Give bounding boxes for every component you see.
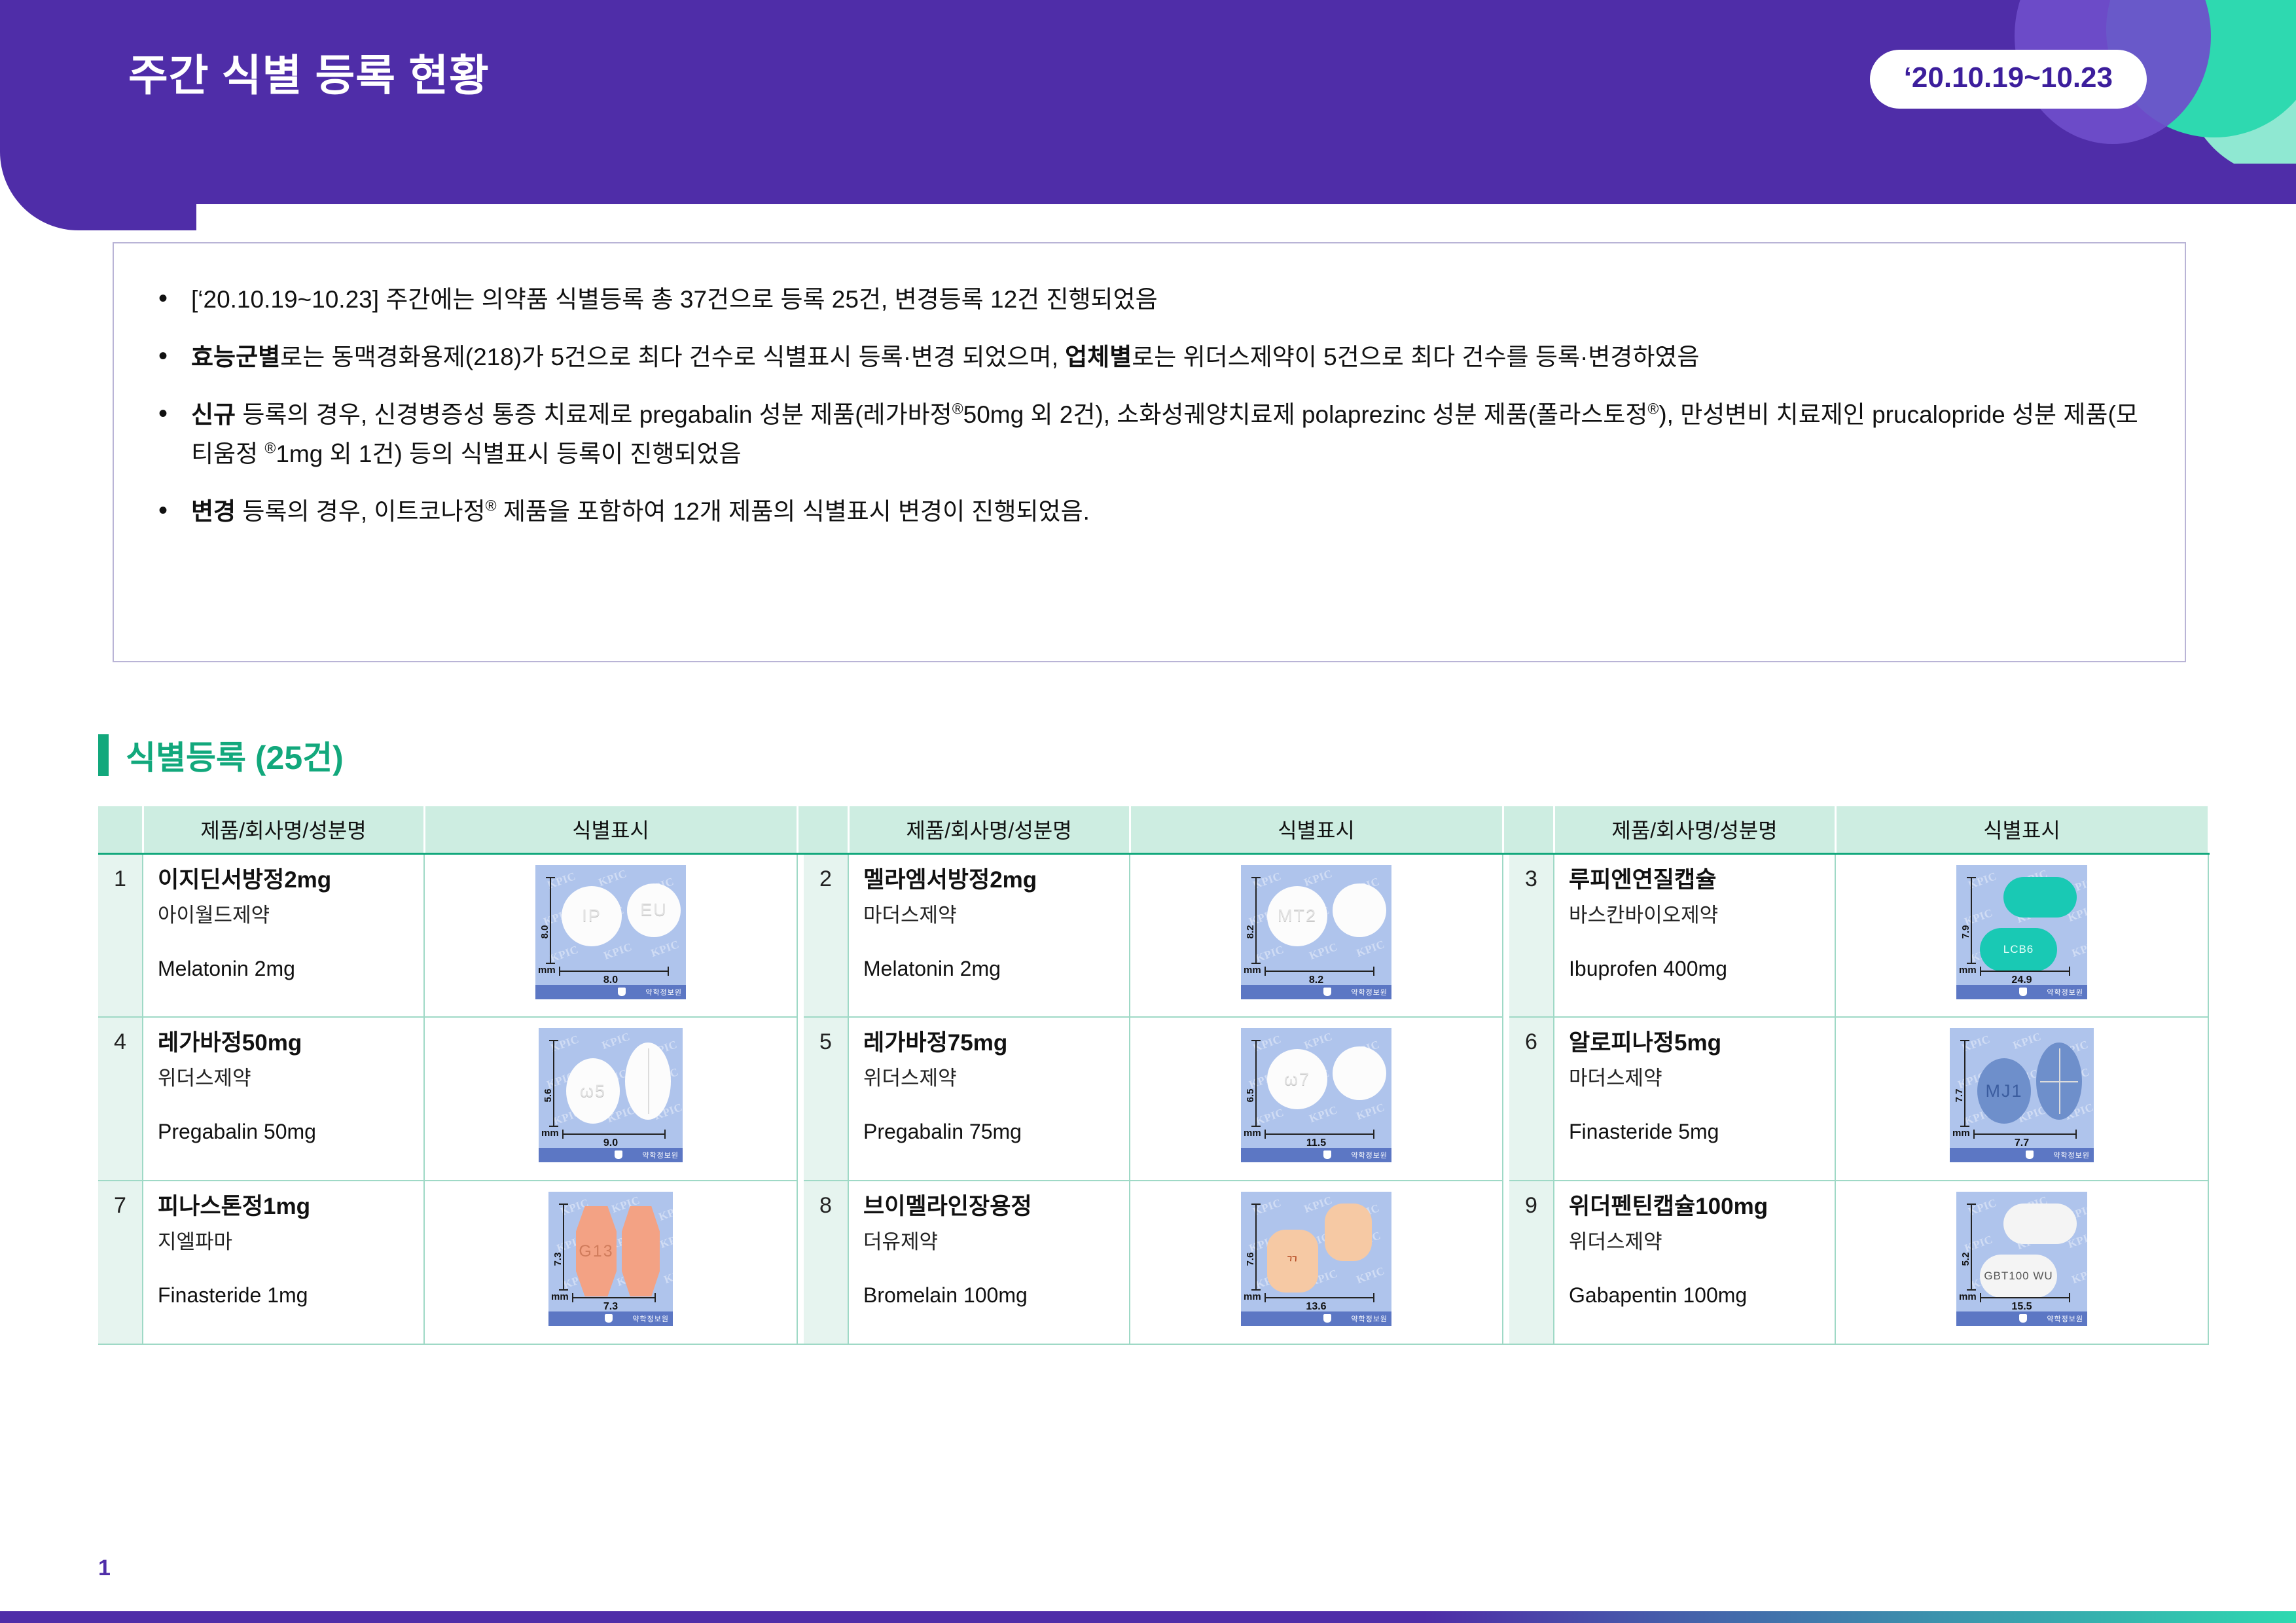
width-ruler [1980, 1297, 2070, 1298]
col-mark-1: 식별표시 [424, 806, 797, 853]
width-ruler [572, 1297, 656, 1298]
height-ruler [563, 1204, 564, 1291]
pill-shape [1325, 1204, 1372, 1261]
bullet-text: 주간에는 의약품 식별등록 총 37건으로 등록 25건, 변경등록 12건 진… [386, 286, 1157, 313]
row-index: 6 [1509, 1017, 1554, 1181]
pill-photo: KPICKPICKPICKPICKPICKPICKPICKPICKPICG137… [548, 1192, 673, 1326]
pill-photo: KPICKPICKPICKPICKPICKPICKPICKPICKPICIPEU… [535, 865, 686, 999]
row-index: 5 [804, 1017, 848, 1181]
row-index: 7 [98, 1181, 143, 1344]
section-heading-label: 식별등록 (25건) [126, 732, 344, 779]
date-range-badge: ‘20.10.19~10.23 [1870, 50, 2147, 109]
identification-mark-cell: KPICKPICKPICKPICKPICKPICKPICKPICKPICω76.… [1130, 1017, 1503, 1181]
photo-source-bar: 약학정보원 [1956, 1311, 2087, 1326]
bullet-text: 등록의 경우, 이트코나정 [242, 498, 485, 525]
row-index: 3 [1509, 853, 1554, 1017]
page-number: 1 [98, 1556, 111, 1581]
column-gap [1503, 1181, 1509, 1344]
kpic-watermark: KPIC [658, 1229, 673, 1251]
pill-shape [622, 1206, 660, 1296]
col-index-2 [804, 806, 848, 853]
pill-photo: KPICKPICKPICKPICKPICKPICKPICKPICKPICMJ17… [1950, 1028, 2094, 1162]
company-name: 마더스제약 [863, 899, 1122, 928]
pill-shape [625, 1043, 671, 1120]
column-gap [1503, 853, 1509, 1017]
bullet-text: 로는 동맥경화용제(218)가 5건으로 최다 건수로 식별표시 등록·변경 되… [280, 344, 1065, 370]
kpic-watermark: KPIC [1302, 1030, 1335, 1052]
kpic-watermark: KPIC [2070, 1264, 2087, 1287]
pill-shape: IP [562, 886, 622, 946]
height-ruler [1964, 1040, 1965, 1127]
table-row: 1이지딘서방정2mg아이월드제약Melatonin 2mgKPICKPICKPI… [98, 853, 2208, 1017]
pill-shape [2003, 877, 2077, 918]
photo-source-bar: 약학정보원 [548, 1311, 673, 1326]
height-ruler [1255, 1204, 1257, 1291]
height-value: 7.3 [552, 1252, 564, 1266]
photo-source-label: 약학정보원 [645, 987, 682, 997]
kpic-logo-icon [615, 1150, 622, 1159]
height-ruler [1255, 877, 1257, 964]
row-index: 8 [804, 1181, 848, 1344]
identification-mark-cell: KPICKPICKPICKPICKPICKPICKPICKPICKPICMT28… [1130, 853, 1503, 1017]
company-name: 아이월드제약 [158, 899, 417, 928]
height-ruler [550, 877, 551, 964]
pill-shape: G13 [576, 1206, 617, 1296]
kpic-logo-icon [605, 1314, 613, 1323]
product-info-cell: 멜라엠서방정2mg마더스제약Melatonin 2mg [848, 853, 1130, 1017]
height-value: 7.7 [1954, 1088, 1965, 1102]
kpic-watermark: KPIC [2011, 1030, 2043, 1052]
kpic-watermark: KPIC [2070, 937, 2087, 959]
height-ruler [1255, 1040, 1257, 1127]
width-ruler [1265, 1133, 1374, 1135]
pill-shape: MJ1 [1977, 1058, 2031, 1124]
pill-shape: GBT100 WU [1980, 1255, 2057, 1298]
product-info-cell: 루피엔연질캡슐바스칸바이오제약Ibuprofen 400mg [1554, 853, 1835, 1017]
kpic-watermark: KPIC [1302, 866, 1335, 889]
col-gap-1 [797, 806, 804, 853]
pill-shape: ω7 [1267, 1049, 1327, 1109]
kpic-watermark: KPIC [1355, 1264, 1387, 1287]
product-info-cell: 피나스톤정1mg지엘파마Finasteride 1mg [143, 1181, 424, 1344]
ingredient-name: Pregabalin 75mg [863, 1120, 1122, 1144]
bullet-text: 효능군별 [191, 344, 280, 370]
kpic-watermark: KPIC [1308, 1103, 1340, 1126]
kpic-logo-icon [2019, 1314, 2027, 1323]
ingredient-name: Bromelain 100mg [863, 1283, 1122, 1308]
col-name-2: 제품/회사명/성분명 [848, 806, 1130, 853]
company-name: 지엘파마 [158, 1225, 417, 1255]
height-ruler [1971, 877, 1972, 964]
bullet-text: 50mg 외 2건), 소화성궤양치료제 polaprezinc 성분 제품(폴… [963, 401, 1648, 428]
row-index: 1 [98, 853, 143, 1017]
page-header: 주간 식별 등록 현황 ‘20.10.19~10.23 [0, 0, 2296, 157]
product-info-cell: 레가바정50mg위더스제약Pregabalin 50mg [143, 1017, 424, 1181]
height-value: 5.2 [1960, 1252, 1971, 1266]
summary-bullet: 변경 등록의 경우, 이트코나정® 제품을 포함하여 12개 제품의 식별표시 … [148, 492, 2151, 531]
kpic-watermark: KPIC [548, 942, 581, 965]
pill-shape: MT2 [1267, 886, 1327, 946]
photo-source-label: 약학정보원 [1351, 1313, 1388, 1324]
registered-mark-icon: ® [486, 497, 497, 514]
height-value: 7.6 [1245, 1252, 1256, 1266]
pill-photo: KPICKPICKPICKPICKPICKPICKPICKPICKPICLCB6… [1956, 865, 2087, 999]
kpic-watermark: KPIC [602, 940, 634, 962]
col-mark-2: 식별표시 [1130, 806, 1503, 853]
registered-mark-icon: ® [264, 439, 276, 456]
pill-shape [2003, 1204, 2077, 1244]
photo-source-bar: 약학정보원 [1950, 1148, 2094, 1162]
product-info-cell: 레가바정75mg위더스제약Pregabalin 75mg [848, 1017, 1130, 1181]
height-ruler [1971, 1204, 1972, 1291]
kpic-logo-icon [1323, 1150, 1331, 1159]
row-index: 2 [804, 853, 848, 1017]
kpic-watermark: KPIC [1254, 942, 1286, 965]
score-line [648, 1048, 649, 1113]
bullet-text: 등록의 경우, 신경병증성 통증 치료제로 pregabalin 성분 제품(레… [242, 401, 952, 428]
photo-source-label: 약학정보원 [642, 1150, 679, 1160]
photo-source-bar: 약학정보원 [539, 1148, 683, 1162]
product-info-cell: 위더펜틴캡슐100mg위더스제약Gabapentin 100mg [1554, 1181, 1835, 1344]
pill-photo: KPICKPICKPICKPICKPICKPICKPICKPICKPICω76.… [1241, 1028, 1391, 1162]
ingredient-name: Finasteride 5mg [1569, 1120, 1828, 1144]
kpic-logo-icon [2019, 988, 2027, 996]
product-name: 레가바정75mg [863, 1029, 1122, 1056]
row-index: 9 [1509, 1181, 1554, 1344]
table-header: 제품/회사명/성분명 식별표시 제품/회사명/성분명 식별표시 제품/회사명/성… [98, 806, 2208, 853]
col-mark-3: 식별표시 [1835, 806, 2208, 853]
col-index-1 [98, 806, 143, 853]
product-name: 알로피나정5mg [1569, 1029, 1828, 1056]
summary-bullet: [‘20.10.19~10.23] 주간에는 의약품 식별등록 총 37건으로 … [148, 280, 2151, 319]
product-name: 루피엔연질캡슐 [1569, 866, 1828, 893]
photo-source-label: 약학정보원 [2047, 1313, 2083, 1324]
photo-source-bar: 약학정보원 [535, 985, 686, 999]
height-ruler [553, 1040, 554, 1127]
column-gap [797, 853, 804, 1017]
pill-shape: ᄁ [1267, 1230, 1318, 1293]
identification-mark-cell: KPICKPICKPICKPICKPICKPICKPICKPICKPICG137… [424, 1181, 797, 1344]
pill-photo: KPICKPICKPICKPICKPICKPICKPICKPICKPICGBT1… [1956, 1192, 2087, 1326]
identification-mark-cell: KPICKPICKPICKPICKPICKPICKPICKPICKPICIPEU… [424, 853, 797, 1017]
bullet-text: 로는 위더스제약이 5건으로 최다 건수를 등록·변경하였음 [1132, 344, 1699, 370]
company-name: 바스칸바이오제약 [1569, 899, 1828, 928]
table-row: 4레가바정50mg위더스제약Pregabalin 50mgKPICKPICKPI… [98, 1017, 2208, 1181]
width-ruler [562, 1133, 666, 1135]
pill-shape: LCB6 [1980, 928, 2057, 971]
row-index: 4 [98, 1017, 143, 1181]
ingredient-name: Finasteride 1mg [158, 1283, 417, 1308]
registration-table: 제품/회사명/성분명 식별표시 제품/회사명/성분명 식별표시 제품/회사명/성… [98, 806, 2210, 1345]
product-name: 레가바정50mg [158, 1029, 417, 1056]
pill-shape [1333, 883, 1386, 937]
photo-source-bar: 약학정보원 [1241, 1148, 1391, 1162]
bullet-text: 변경 [191, 498, 242, 525]
ingredient-name: Pregabalin 50mg [158, 1120, 417, 1144]
bullet-text: 1mg 외 1건) 등의 식별표시 등록이 진행되었음 [276, 440, 741, 467]
kpic-logo-icon [618, 988, 626, 996]
height-value: 5.6 [543, 1088, 554, 1102]
identification-mark-cell: KPICKPICKPICKPICKPICKPICKPICKPICKPICω55.… [424, 1017, 797, 1181]
table-header-row: 제품/회사명/성분명 식별표시 제품/회사명/성분명 식별표시 제품/회사명/성… [98, 806, 2208, 853]
summary-box: [‘20.10.19~10.23] 주간에는 의약품 식별등록 총 37건으로 … [113, 242, 2186, 662]
ingredient-name: Melatonin 2mg [863, 957, 1122, 981]
identification-mark-cell: KPICKPICKPICKPICKPICKPICKPICKPICKPICᄁ7.6… [1130, 1181, 1503, 1344]
width-ruler [1265, 971, 1374, 972]
width-ruler [1973, 1133, 2077, 1135]
registered-mark-icon: ® [952, 401, 963, 418]
kpic-logo-icon [2026, 1150, 2034, 1159]
kpic-logo-icon [1323, 1314, 1331, 1323]
product-name: 멜라엠서방정2mg [863, 866, 1122, 893]
width-ruler [1265, 1297, 1374, 1298]
identification-mark-cell: KPICKPICKPICKPICKPICKPICKPICKPICKPICMJ17… [1835, 1017, 2208, 1181]
photo-source-label: 약학정보원 [1351, 1150, 1388, 1160]
bullet-text: [‘20.10.19~10.23] [191, 286, 386, 313]
company-name: 위더스제약 [1569, 1225, 1828, 1255]
company-name: 위더스제약 [158, 1061, 417, 1091]
width-ruler [1980, 971, 2070, 972]
bullet-text: 제품을 포함하여 12개 제품의 식별표시 변경이 진행되었음. [497, 498, 1090, 525]
height-value: 8.0 [539, 925, 550, 939]
height-value: 8.2 [1245, 925, 1256, 939]
pill-shape: ω5 [566, 1058, 620, 1124]
company-name: 더유제약 [863, 1225, 1122, 1255]
product-info-cell: 브이멜라인장용정더유제약Bromelain 100mg [848, 1181, 1130, 1344]
column-gap [1503, 1017, 1509, 1181]
photo-source-label: 약학정보원 [2053, 1150, 2090, 1160]
product-info-cell: 이지딘서방정2mg아이월드제약Melatonin 2mg [143, 853, 424, 1017]
bullet-text: 업체별 [1065, 344, 1132, 370]
kpic-watermark: KPIC [1355, 937, 1387, 959]
kpic-watermark: KPIC [1254, 1106, 1286, 1128]
kpic-watermark: KPIC [662, 1264, 673, 1287]
pill-shape [2036, 1043, 2082, 1120]
photo-source-label: 약학정보원 [1351, 987, 1388, 997]
identification-mark-cell: KPICKPICKPICKPICKPICKPICKPICKPICKPICGBT1… [1835, 1181, 2208, 1344]
summary-bullet: 신규 등록의 경우, 신경병증성 통증 치료제로 pregabalin 성분 제… [148, 395, 2151, 474]
product-name: 이지딘서방정2mg [158, 866, 417, 893]
bullet-text: 신규 [191, 401, 242, 428]
table-body: 1이지딘서방정2mg아이월드제약Melatonin 2mgKPICKPICKPI… [98, 853, 2208, 1344]
page-title: 주간 식별 등록 현황 [128, 41, 490, 103]
identification-mark-cell: KPICKPICKPICKPICKPICKPICKPICKPICKPICLCB6… [1835, 853, 2208, 1017]
section-heading: 식별등록 (25건) [98, 732, 344, 779]
product-info-cell: 알로피나정5mg마더스제약Finasteride 5mg [1554, 1017, 1835, 1181]
company-name: 마더스제약 [1569, 1061, 1828, 1091]
photo-source-bar: 약학정보원 [1241, 985, 1391, 999]
photo-source-bar: 약학정보원 [1241, 1311, 1391, 1326]
photo-source-label: 약학정보원 [2047, 987, 2083, 997]
kpic-watermark: KPIC [600, 1030, 632, 1052]
product-name: 피나스톤정1mg [158, 1193, 417, 1220]
photo-source-label: 약학정보원 [632, 1313, 669, 1324]
header-corner-round [0, 152, 196, 230]
score-line [2040, 1081, 2079, 1082]
kpic-watermark: KPIC [649, 937, 681, 959]
section-accent-bar [98, 734, 109, 776]
registered-mark-icon: ® [1647, 401, 1659, 418]
kpic-logo-icon [1323, 988, 1331, 996]
table-row: 7피나스톤정1mg지엘파마Finasteride 1mgKPICKPICKPIC… [98, 1181, 2208, 1344]
pill-photo: KPICKPICKPICKPICKPICKPICKPICKPICKPICω55.… [539, 1028, 683, 1162]
kpic-watermark: KPIC [1355, 1101, 1387, 1123]
pill-shape [1333, 1046, 1386, 1100]
ingredient-name: Melatonin 2mg [158, 957, 417, 981]
col-name-3: 제품/회사명/성분명 [1554, 806, 1835, 853]
col-gap-2 [1503, 806, 1509, 853]
pill-photo: KPICKPICKPICKPICKPICKPICKPICKPICKPICMT28… [1241, 865, 1391, 999]
height-value: 7.9 [1960, 925, 1971, 939]
column-gap [797, 1181, 804, 1344]
photo-source-bar: 약학정보원 [1956, 985, 2087, 999]
kpic-watermark: KPIC [657, 1202, 673, 1224]
col-index-3 [1509, 806, 1554, 853]
kpic-watermark: KPIC [1308, 940, 1340, 962]
col-name-1: 제품/회사명/성분명 [143, 806, 424, 853]
pill-shape: EU [627, 883, 681, 937]
width-ruler [559, 971, 669, 972]
height-value: 6.5 [1245, 1088, 1256, 1102]
pill-photo: KPICKPICKPICKPICKPICKPICKPICKPICKPICᄁ7.6… [1241, 1192, 1391, 1326]
summary-bullet: 효능군별로는 동맥경화용제(218)가 5건으로 최다 건수로 식별표시 등록·… [148, 338, 2151, 377]
product-name: 브이멜라인장용정 [863, 1193, 1122, 1220]
footer-gradient-bar [0, 1611, 2296, 1623]
kpic-watermark: KPIC [597, 866, 629, 889]
ingredient-name: Gabapentin 100mg [1569, 1283, 1828, 1308]
header-curve [0, 157, 2296, 204]
company-name: 위더스제약 [863, 1061, 1122, 1091]
column-gap [797, 1017, 804, 1181]
ingredient-name: Ibuprofen 400mg [1569, 957, 1828, 981]
product-name: 위더펜틴캡슐100mg [1569, 1193, 1828, 1220]
summary-bullet-list: [‘20.10.19~10.23] 주간에는 의약품 식별등록 총 37건으로 … [148, 280, 2151, 531]
